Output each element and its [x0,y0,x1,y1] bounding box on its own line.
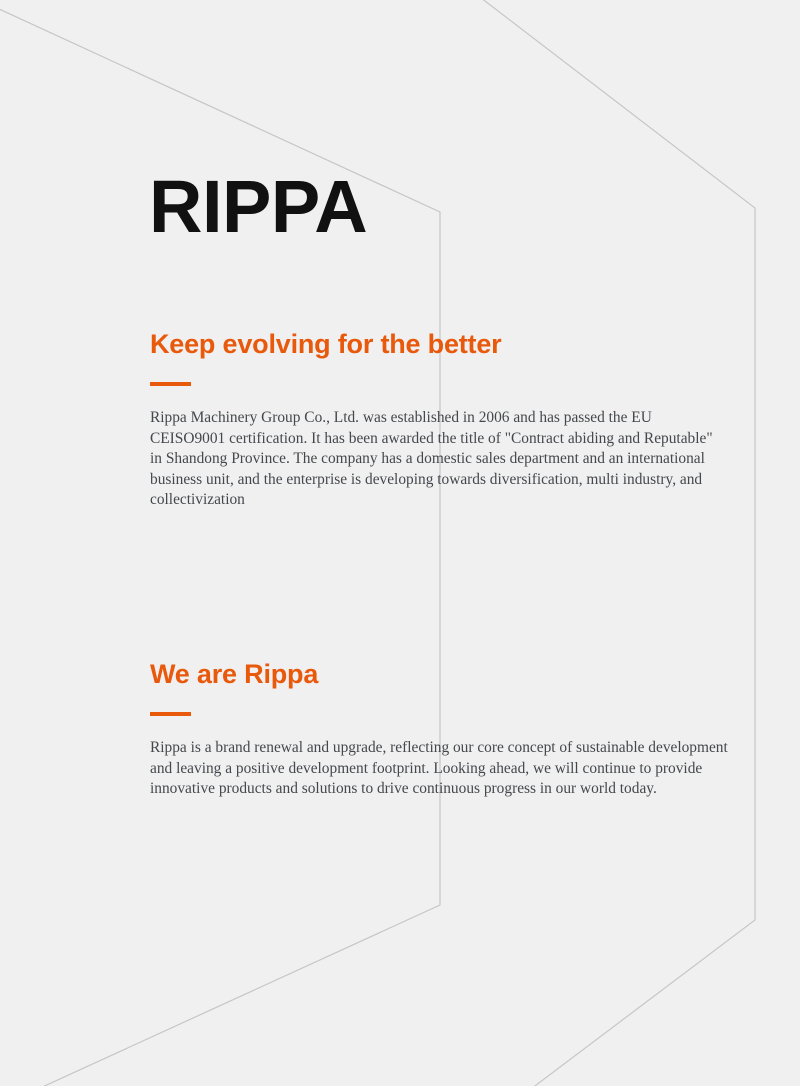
section-keep-evolving: Keep evolving for the better Rippa Machi… [150,328,730,511]
heading-underline-rule [150,712,191,716]
brand-page: RIPPA Keep evolving for the better Rippa… [0,0,800,1086]
section-heading: Keep evolving for the better [150,328,730,361]
section-heading: We are Rippa [150,658,730,691]
section-we-are-rippa: We are Rippa Rippa is a brand renewal an… [150,658,730,800]
brand-logo: RIPPA [149,170,367,244]
section-body-text: Rippa Machinery Group Co., Ltd. was esta… [150,408,728,511]
page-content: RIPPA Keep evolving for the better Rippa… [0,0,800,1086]
section-body-text: Rippa is a brand renewal and upgrade, re… [150,738,728,800]
heading-underline-rule [150,382,191,386]
